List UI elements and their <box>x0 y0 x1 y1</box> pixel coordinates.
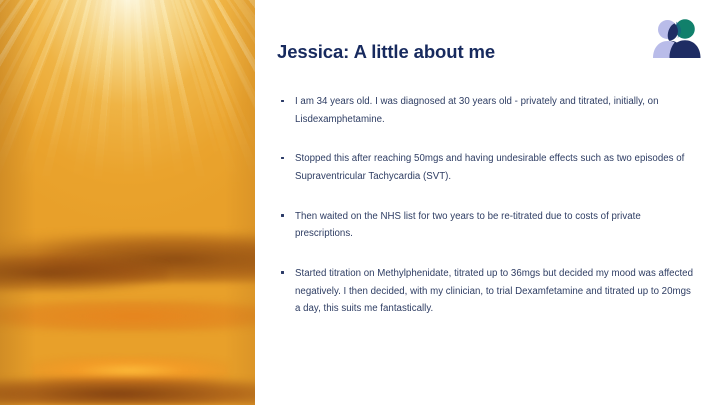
bullet-marker-icon <box>281 265 295 274</box>
photo-vignette <box>0 0 255 405</box>
content-panel: Jessica: A little about me I am 34 years… <box>255 0 720 405</box>
list-item-text: I am 34 years old. I was diagnosed at 30… <box>295 93 693 128</box>
bullet-marker-icon <box>281 93 295 102</box>
slide: Jessica: A little about me I am 34 years… <box>0 0 720 405</box>
list-item: Started titration on Methylphenidate, ti… <box>281 265 693 318</box>
list-item-text: Started titration on Methylphenidate, ti… <box>295 265 693 318</box>
list-item: Stopped this after reaching 50mgs and ha… <box>281 150 693 185</box>
list-item: Then waited on the NHS list for two year… <box>281 208 693 243</box>
bullet-marker-icon <box>281 208 295 217</box>
bullet-marker-icon <box>281 150 295 159</box>
page-title: Jessica: A little about me <box>277 41 495 63</box>
two-people-icon <box>650 16 702 58</box>
list-item: I am 34 years old. I was diagnosed at 30… <box>281 93 693 128</box>
sunset-sunburst-photo <box>0 0 255 405</box>
list-item-text: Then waited on the NHS list for two year… <box>295 208 693 243</box>
bullet-list: I am 34 years old. I was diagnosed at 30… <box>281 93 693 318</box>
list-item-text: Stopped this after reaching 50mgs and ha… <box>295 150 693 185</box>
